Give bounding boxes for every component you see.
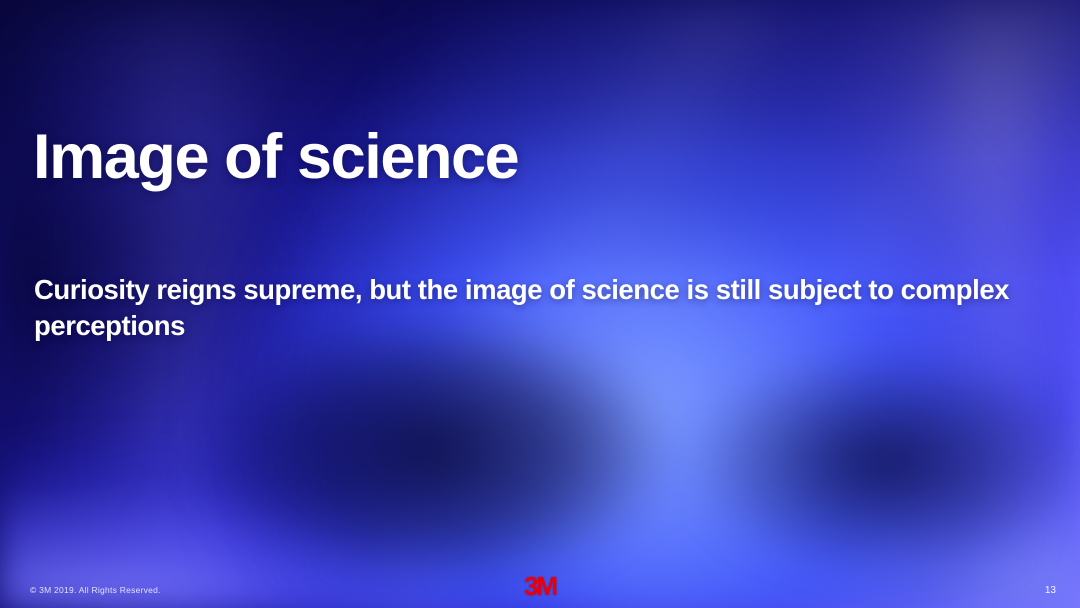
page-number: 13 (1045, 585, 1056, 596)
copyright-notice: © 3M 2019. All Rights Reserved. (30, 585, 161, 595)
slide-title: Image of science (33, 126, 518, 189)
presentation-slide: Image of science Curiosity reigns suprem… (0, 0, 1080, 608)
three-m-logo: 3M (524, 573, 556, 599)
slide-subtitle: Curiosity reigns supreme, but the image … (34, 272, 1024, 344)
